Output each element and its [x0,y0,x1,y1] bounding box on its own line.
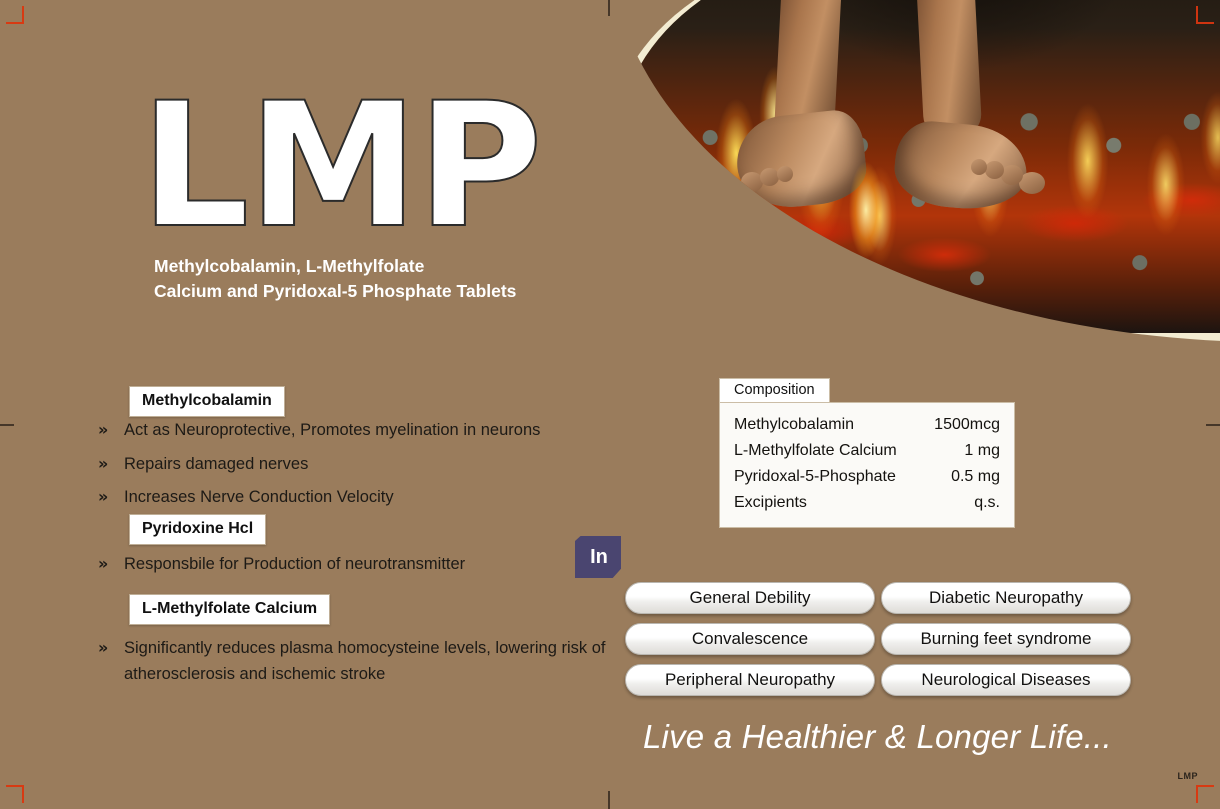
indications-list: General Debility Diabetic Neuropathy Con… [625,582,1131,696]
composition-row: Methylcobalamin 1500mcg [734,412,1000,438]
indication-pill: Burning feet syndrome [881,623,1131,655]
bullet-group-methylcobalamin: » Act as Neuroprotective, Promotes myeli… [98,418,638,519]
flame-foreground [844,138,888,258]
bullet-group-lmethylfolate: » Significantly reduces plasma homocyste… [98,636,638,695]
bullet-text: Repairs damaged nerves [124,452,308,478]
composition-row: L-Methylfolate Calcium 1 mg [734,438,1000,464]
composition-strength: q.s. [974,490,1000,516]
bullet-text: Responsbile for Production of neurotrans… [124,552,465,578]
registration-tick-left-icon [0,424,14,426]
composition-strength: 0.5 mg [951,464,1000,490]
crop-mark-top-left-icon [6,6,28,28]
bullet-marker-icon: » [98,552,124,577]
composition-strength: 1 mg [964,438,1000,464]
indication-pill: Peripheral Neuropathy [625,664,875,696]
composition-ingredient: L-Methylfolate Calcium [734,438,897,464]
bullet-text: Act as Neuroprotective, Promotes myelina… [124,418,540,444]
composition-table: Methylcobalamin 1500mcg L-Methylfolate C… [719,402,1015,528]
composition-ingredient: Excipients [734,490,807,516]
bullet-item: » Responsbile for Production of neurotra… [98,552,638,578]
bullet-item: » Repairs damaged nerves [98,452,638,478]
composition-row: Pyridoxal-5-Phosphate 0.5 mg [734,464,1000,490]
composition-row: Excipients q.s. [734,490,1000,516]
indications-badge: In [575,536,621,578]
indication-pill: Neurological Diseases [881,664,1131,696]
composition-title: Composition [719,378,830,403]
brand-logo: LMP [140,92,541,240]
bullet-marker-icon: » [98,452,124,477]
brand-block: LMP Methylcobalamin, L-Methylfolate Calc… [140,92,541,304]
registration-tick-top-icon [608,0,610,16]
crop-mark-bottom-left-icon [6,781,28,803]
footer-product-code: LMP [1178,771,1199,781]
indication-pill: Convalescence [625,623,875,655]
composition-ingredient: Methylcobalamin [734,412,854,438]
brand-subtitle-line2: Calcium and Pyridoxal-5 Phosphate Tablet… [154,279,541,304]
tagline: Live a Healthier & Longer Life... [643,718,1112,756]
composition-strength: 1500mcg [934,412,1000,438]
section-chip-l-methylfolate-calcium: L-Methylfolate Calcium [129,594,330,625]
bullet-item: » Increases Nerve Conduction Velocity [98,485,638,511]
bullet-item: » Significantly reduces plasma homocyste… [98,636,638,687]
indication-pill: General Debility [625,582,875,614]
bullet-text: Significantly reduces plasma homocystein… [124,636,638,687]
composition-ingredient: Pyridoxal-5-Phosphate [734,464,896,490]
registration-tick-bottom-icon [608,791,610,809]
section-chip-pyridoxine-hcl: Pyridoxine Hcl [129,514,266,545]
composition-card: Composition Methylcobalamin 1500mcg L-Me… [719,378,1015,528]
bullet-text: Increases Nerve Conduction Velocity [124,485,394,511]
hero-image-oval [610,0,1220,342]
crop-mark-bottom-right-icon [1192,781,1214,803]
registration-tick-right-icon [1206,424,1220,426]
bullet-marker-icon: » [98,636,124,661]
bullet-marker-icon: » [98,485,124,510]
bullet-marker-icon: » [98,418,124,443]
leg-right [914,0,983,138]
section-chip-methylcobalamin: Methylcobalamin [129,386,285,417]
bullet-group-pyridoxine: » Responsbile for Production of neurotra… [98,552,638,586]
artwork-canvas: LMP Methylcobalamin, L-Methylfolate Calc… [0,0,1220,809]
bullet-item: » Act as Neuroprotective, Promotes myeli… [98,418,638,444]
indication-pill: Diabetic Neuropathy [881,582,1131,614]
hero-oval-frame [610,0,1220,342]
firewalk-photo [619,0,1220,333]
